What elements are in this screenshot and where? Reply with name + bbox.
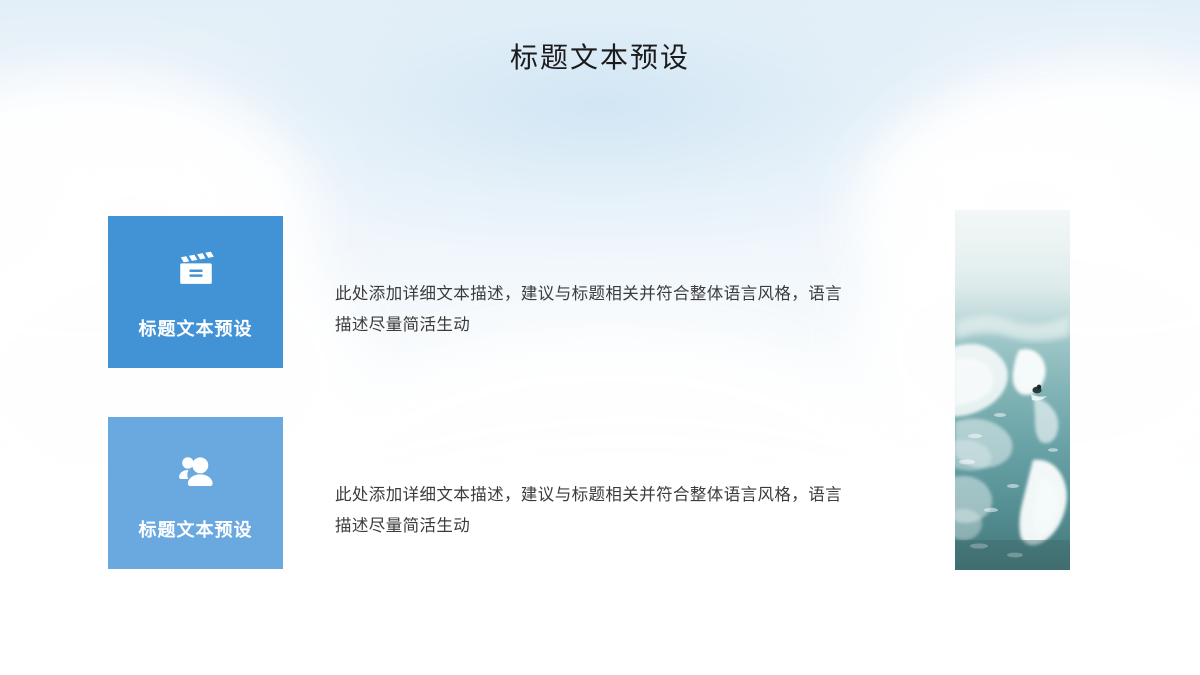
presentation-slide: 标题文本预设 标题文本预设 此处添加详细文本描述，建议与标题相关并符合整体语言风…	[0, 0, 1200, 675]
clapperboard-icon	[176, 250, 216, 290]
ocean-surfer-photo	[955, 210, 1070, 570]
feature-card-2-description: 此处添加详细文本描述，建议与标题相关并符合整体语言风格，语言描述尽量简活生动	[335, 480, 850, 541]
feature-card-1-description: 此处添加详细文本描述，建议与标题相关并符合整体语言风格，语言描述尽量简活生动	[335, 279, 850, 340]
feature-card-2[interactable]: 标题文本预设	[108, 417, 283, 569]
feature-card-1[interactable]: 标题文本预设	[108, 216, 283, 368]
page-title: 标题文本预设	[0, 36, 1200, 76]
users-icon	[176, 451, 216, 491]
feature-card-2-label: 标题文本预设	[139, 521, 253, 539]
feature-card-1-label: 标题文本预设	[139, 320, 253, 338]
